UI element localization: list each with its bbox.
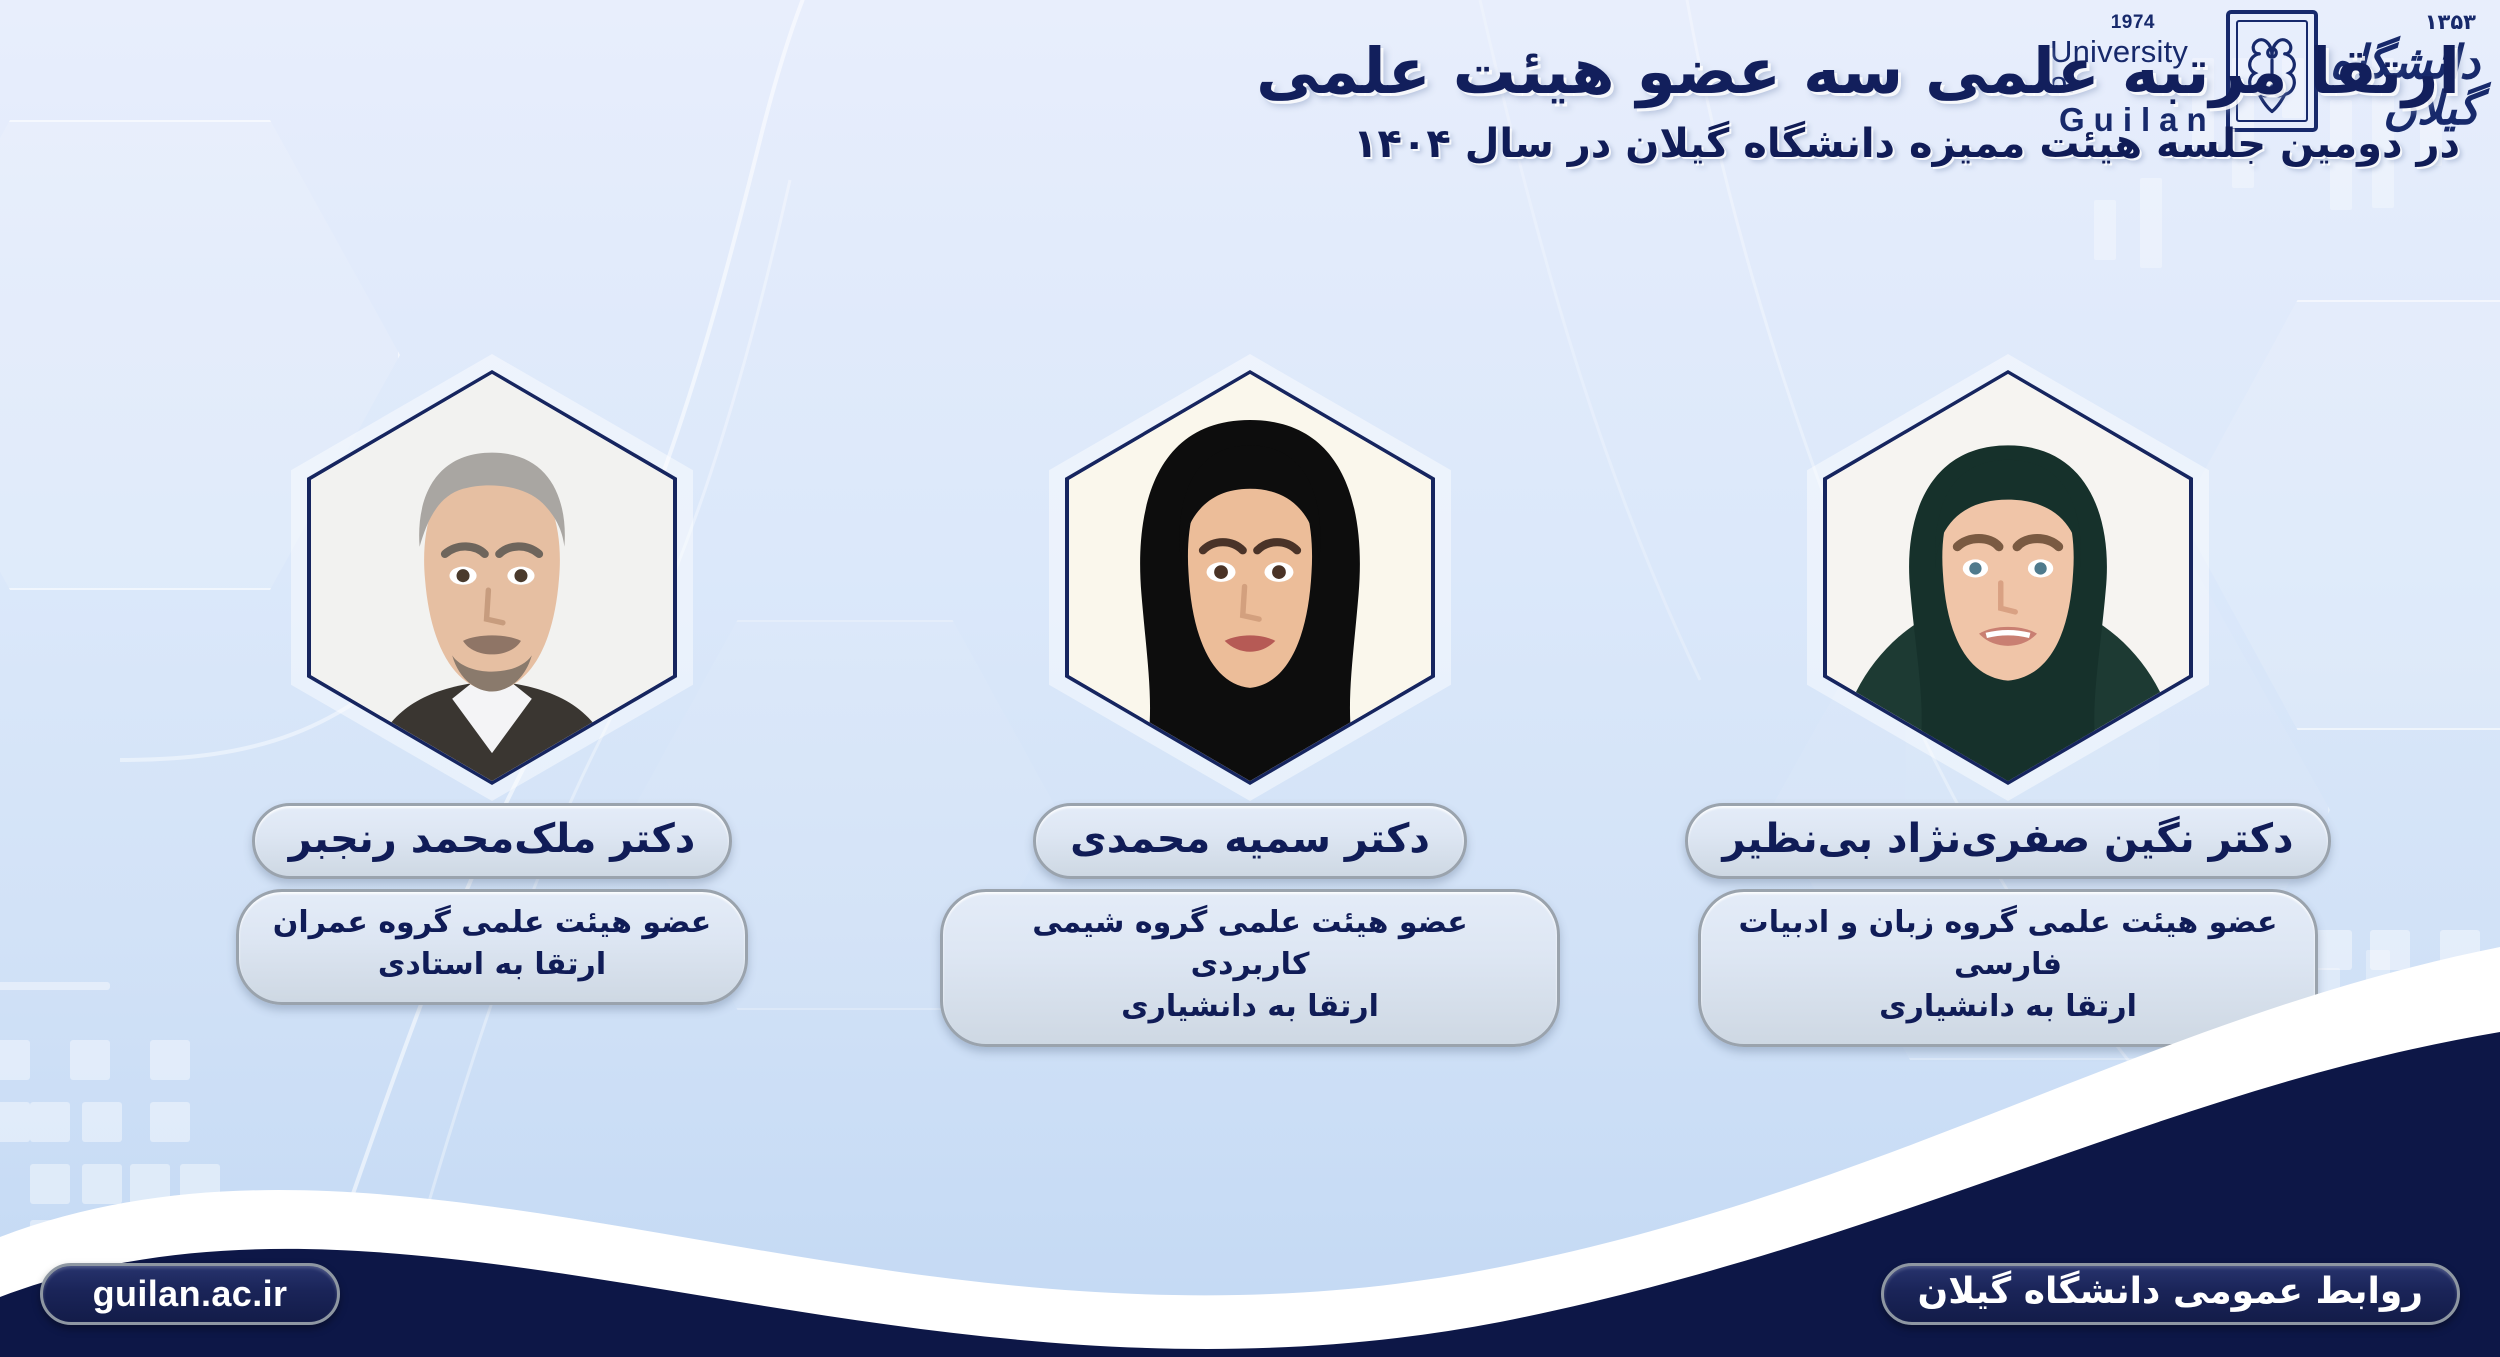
logo-year-fa: ۱۳۵۳ (2425, 12, 2476, 33)
photo-frame-hexagon (1065, 370, 1435, 785)
logo-year-en: 1974 (2111, 13, 2155, 32)
poster-canvas: 1974 University of Guilan ۱۳۵۳ دانشگ (0, 0, 2500, 1357)
person-name: دکتر نگین صفری‌نژاد بی‌نظیر (1685, 803, 2330, 879)
page-title: ارتقا مرتبه علمی سه عضو هیئت علمی (900, 34, 2460, 111)
website-badge[interactable]: guilan.ac.ir (40, 1263, 340, 1325)
photo-frame-hexagon (1823, 370, 2193, 785)
public-relations-badge: روابط عمومی دانشگاه گیلان (1881, 1263, 2460, 1325)
person-name: دکتر سمیه محمدی (1033, 803, 1467, 879)
photo-frame-hexagon (307, 370, 677, 785)
page-subtitle: در دومین جلسه هیئت ممیزه دانشگاه گیلان د… (900, 119, 2460, 169)
person-name: دکتر ملک‌محمد رنجبر (252, 803, 733, 879)
heading-block: ارتقا مرتبه علمی سه عضو هیئت علمی در دوم… (900, 34, 2460, 169)
person-card: دکتر ملک‌محمد رنجبر عضو هیئت علمی گروه ع… (182, 370, 802, 1005)
